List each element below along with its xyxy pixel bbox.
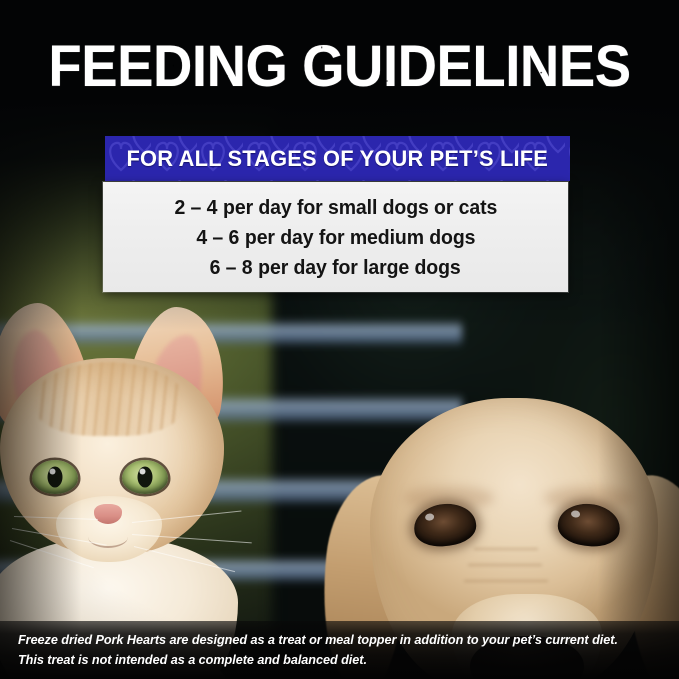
page-title-text: FEEDING GUIDELINES	[48, 38, 630, 96]
feeding-row-small: 2 – 4per day for small dogs or cats	[174, 193, 497, 223]
feeding-row-medium: 4 – 6per day for medium dogs	[196, 223, 475, 253]
feeding-row-large: 6 – 8per day for large dogs	[210, 253, 461, 283]
disclaimer: Freeze dried Pork Hearts are designed as…	[0, 621, 679, 679]
stages-banner-label: FOR ALL STAGES OF YOUR PET’S LIFE	[127, 146, 549, 172]
feeding-amounts-panel: 2 – 4per day for small dogs or cats 4 – …	[103, 182, 568, 292]
page-title: FEEDING GUIDELINES	[20, 38, 658, 96]
feeding-text-small: per day for small dogs or cats	[223, 196, 497, 219]
feeding-amount-large: 6 – 8	[210, 256, 253, 279]
stages-banner: FOR ALL STAGES OF YOUR PET’S LIFE	[105, 136, 570, 181]
disclaimer-line-2: This treat is not intended as a complete…	[18, 650, 635, 670]
pet-photo	[0, 0, 679, 679]
feeding-guidelines-poster: FEEDING GUIDELINES FOR ALL STAGES OF YOU…	[0, 0, 679, 679]
feeding-amount-medium: 4 – 6	[196, 226, 239, 249]
disclaimer-line-1: Freeze dried Pork Hearts are designed as…	[18, 630, 635, 650]
feeding-text-medium: per day for medium dogs	[245, 226, 475, 249]
feeding-text-large: per day for large dogs	[259, 256, 461, 279]
feeding-amount-small: 2 – 4	[174, 196, 217, 219]
